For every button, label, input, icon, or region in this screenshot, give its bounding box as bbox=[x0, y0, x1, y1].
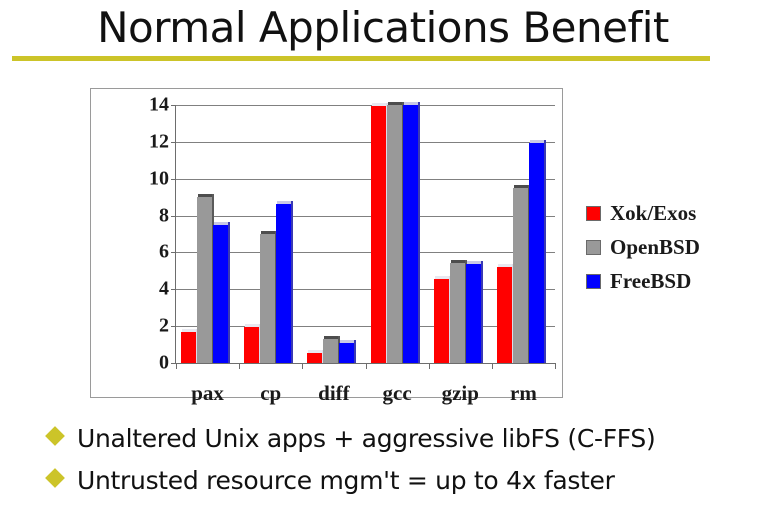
chart-category-group: rm bbox=[492, 105, 555, 363]
bullet-item-text: Untrusted resource mgm't = up to 4x fast… bbox=[77, 466, 615, 496]
chart-bar bbox=[307, 353, 322, 363]
x-axis-category-label: diff bbox=[318, 381, 350, 406]
legend-item: FreeBSD bbox=[586, 264, 761, 298]
diamond-bullet-icon bbox=[45, 426, 65, 446]
bullet-item-text: Unaltered Unix apps + aggressive libFS (… bbox=[77, 424, 655, 454]
chart-bar bbox=[371, 106, 386, 363]
chart-bar bbox=[450, 263, 465, 363]
x-axis-tick-mark bbox=[366, 363, 367, 369]
y-axis-tick-label: 8 bbox=[159, 204, 169, 227]
chart-bar bbox=[339, 343, 354, 363]
title-underline-rule bbox=[12, 56, 710, 61]
chart-bar bbox=[403, 105, 418, 363]
x-axis-category-label: cp bbox=[260, 381, 281, 406]
legend-color-swatch bbox=[586, 240, 601, 255]
x-axis-category-label: gcc bbox=[383, 381, 412, 406]
legend-item: Xok/Exos bbox=[586, 196, 761, 230]
legend-item: OpenBSD bbox=[586, 230, 761, 264]
y-axis-tick-label: 0 bbox=[159, 352, 169, 375]
chart-bar bbox=[529, 143, 544, 363]
legend-item-label: OpenBSD bbox=[610, 235, 700, 260]
chart-category-group: gcc bbox=[366, 105, 429, 363]
legend-color-swatch bbox=[586, 206, 601, 221]
bar-chart: 02468101214paxcpdiffgccgziprm bbox=[90, 88, 563, 398]
x-axis-tick-mark bbox=[555, 363, 556, 369]
x-axis-tick-mark bbox=[302, 363, 303, 369]
x-axis-tick-mark bbox=[429, 363, 430, 369]
page-title: Normal Applications Benefit bbox=[0, 2, 766, 54]
y-axis-tick-label: 6 bbox=[159, 241, 169, 264]
chart-bar bbox=[260, 234, 275, 363]
chart-bar bbox=[387, 105, 402, 363]
y-axis-tick-label: 2 bbox=[159, 315, 169, 338]
x-axis-category-label: gzip bbox=[442, 381, 479, 406]
chart-bar bbox=[513, 188, 528, 363]
bullet-item: Unaltered Unix apps + aggressive libFS (… bbox=[48, 424, 766, 466]
legend-item-label: Xok/Exos bbox=[610, 201, 696, 226]
chart-bar bbox=[181, 332, 196, 363]
legend-color-swatch bbox=[586, 274, 601, 289]
chart-bar bbox=[323, 339, 338, 363]
x-axis-tick-mark bbox=[239, 363, 240, 369]
chart-legend: Xok/ExosOpenBSDFreeBSD bbox=[586, 196, 761, 298]
chart-category-group: gzip bbox=[429, 105, 492, 363]
x-axis-category-label: pax bbox=[191, 381, 224, 406]
x-axis-tick-mark bbox=[492, 363, 493, 369]
chart-bar bbox=[244, 327, 259, 363]
chart-bar bbox=[213, 225, 228, 363]
diamond-bullet-icon bbox=[45, 468, 65, 488]
chart-bar bbox=[197, 197, 212, 363]
chart-bar bbox=[276, 204, 291, 363]
y-axis-tick-label: 10 bbox=[149, 167, 169, 190]
y-axis-tick-label: 12 bbox=[149, 130, 169, 153]
chart-category-group: pax bbox=[176, 105, 239, 363]
x-axis-tick-mark bbox=[176, 363, 177, 369]
bullet-list: Unaltered Unix apps + aggressive libFS (… bbox=[48, 424, 766, 508]
chart-category-group: cp bbox=[239, 105, 302, 363]
chart-bar bbox=[466, 264, 481, 363]
x-axis-category-label: rm bbox=[510, 381, 537, 406]
bullet-item: Untrusted resource mgm't = up to 4x fast… bbox=[48, 466, 766, 508]
chart-category-group: diff bbox=[302, 105, 365, 363]
chart-bar bbox=[497, 267, 512, 363]
y-axis-tick-label: 4 bbox=[159, 278, 169, 301]
y-axis-tick-label: 14 bbox=[149, 94, 169, 117]
chart-plot-area: 02468101214paxcpdiffgccgziprm bbox=[175, 105, 555, 364]
legend-item-label: FreeBSD bbox=[610, 269, 691, 294]
chart-bar bbox=[434, 279, 449, 363]
